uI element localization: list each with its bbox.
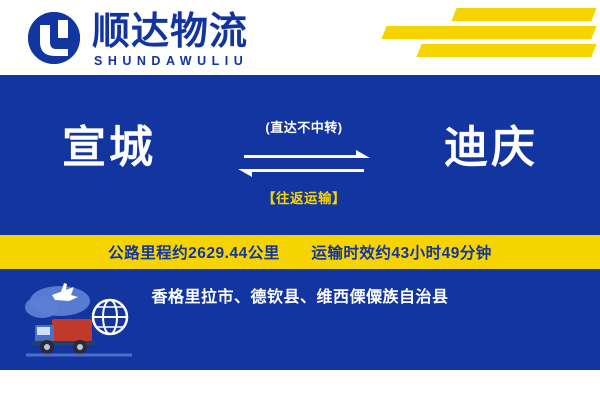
info-bar-content: 公路里程约2629.44公里 运输时效约43小时49分钟: [108, 241, 492, 263]
duration-text: 运输时效约43小时49分钟: [311, 245, 491, 262]
direct-route-label: (直达不中转): [238, 117, 370, 136]
brand-name-en: SHUNDAWULIU: [94, 54, 248, 68]
coverage-areas: 香格里拉市、德钦县、维西傈僳族自治县: [0, 283, 600, 307]
round-trip-label: 【往返运输】: [238, 187, 370, 207]
brand-name-cn: 顺达物流: [92, 10, 248, 54]
stripe-2: [381, 26, 596, 39]
stripe-1: [451, 8, 596, 21]
origin-city: 宣城: [62, 122, 156, 174]
route-panel: 宣城 (直达不中转) 【往返运输】 迪庆: [0, 75, 600, 235]
stripe-3: [416, 44, 596, 57]
distance-text: 公路里程约2629.44公里: [108, 245, 280, 262]
circle-swoosh-logo-icon: [28, 12, 80, 64]
header: 顺达物流 SHUNDAWULIU: [0, 0, 600, 75]
logistics-route-poster: 顺达物流 SHUNDAWULIU 宣城 (直达不中转) 【往返运输】 迪庆 公路…: [0, 0, 600, 400]
route-arrow-group: (直达不中转) 【往返运输】: [238, 117, 370, 217]
info-bar: 公路里程约2629.44公里 运输时效约43小时49分钟: [0, 235, 600, 269]
double-arrow-icon: [238, 145, 370, 179]
bottom-strip: [0, 370, 600, 400]
destination-city: 迪庆: [444, 122, 538, 174]
coverage-panel: 香格里拉市、德钦县、维西傈僳族自治县: [0, 269, 600, 370]
decorative-stripes: [360, 0, 600, 75]
